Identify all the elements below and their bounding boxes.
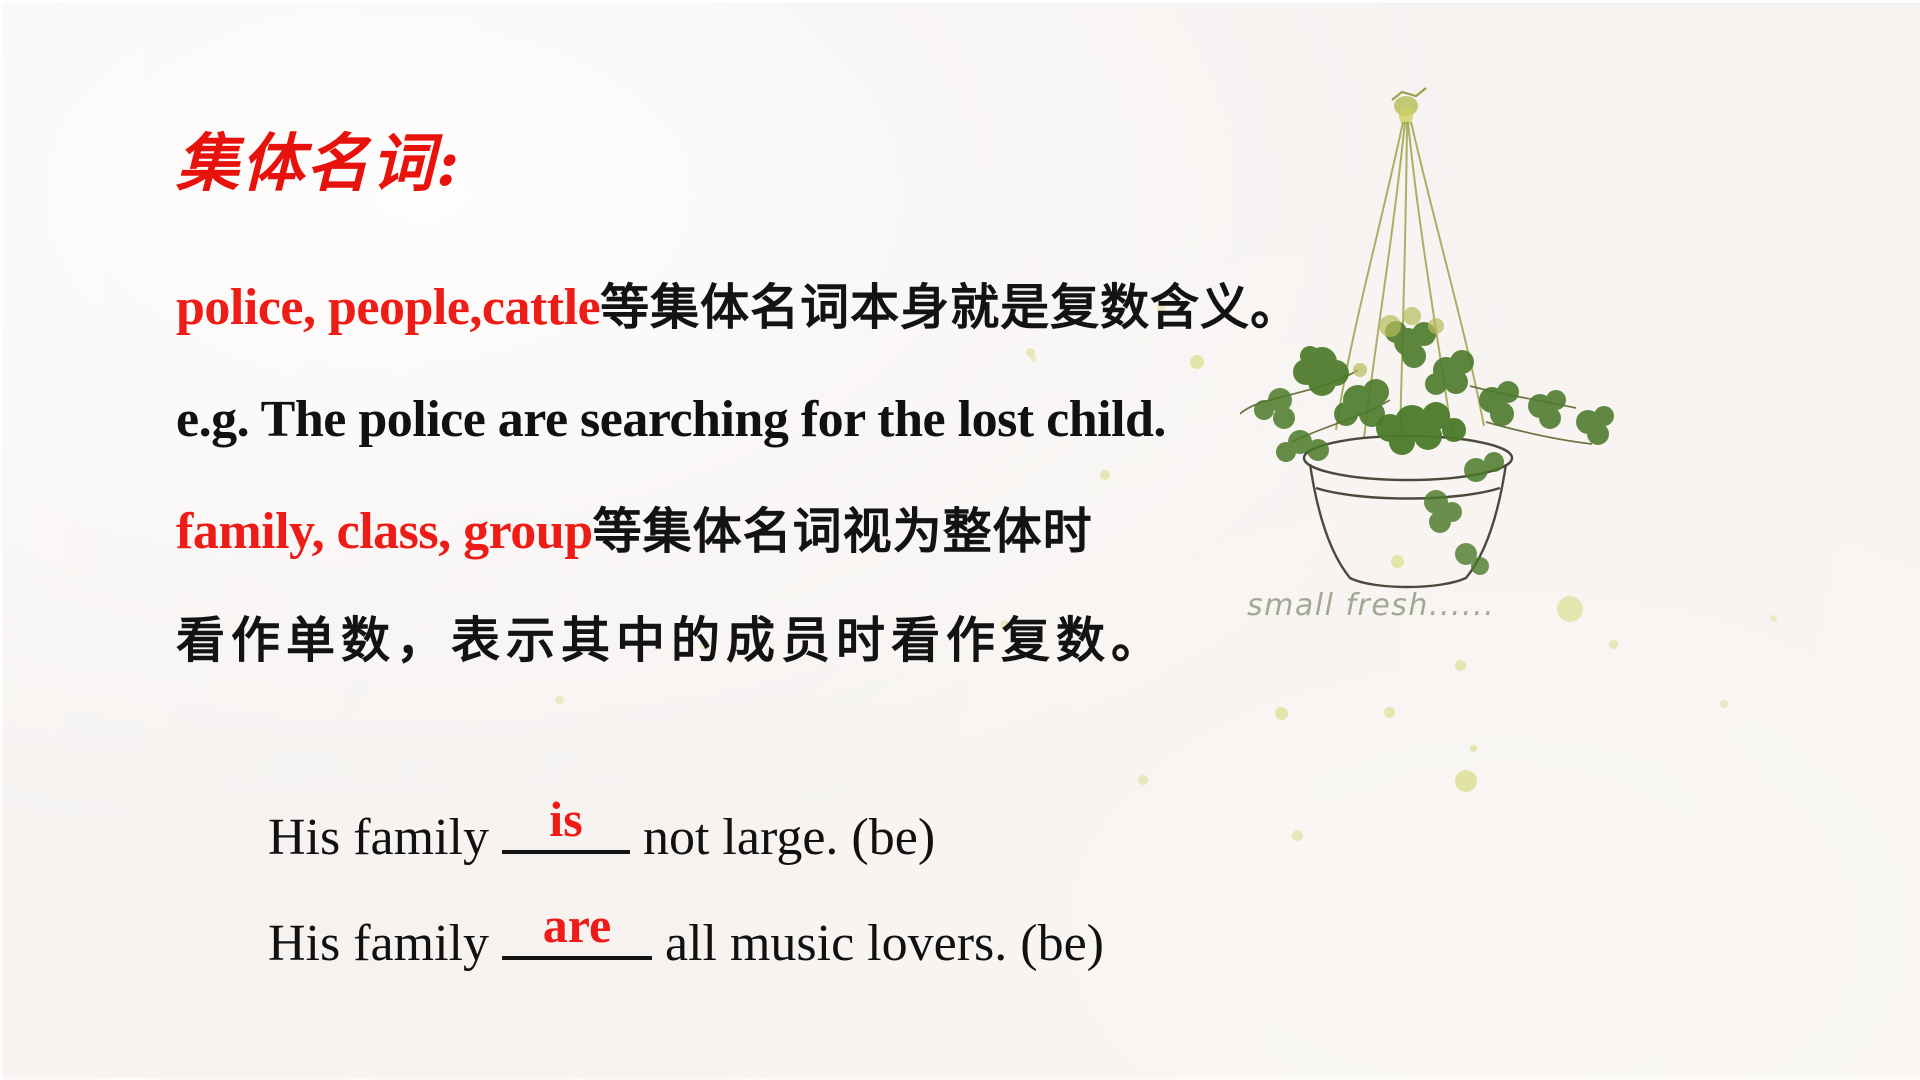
accent-dot <box>1557 596 1583 622</box>
exercise-2-blank[interactable]: are <box>502 906 652 960</box>
accent-dot <box>1455 770 1477 792</box>
hanging-potted-plant-illustration <box>1240 70 1660 600</box>
accent-dot <box>1470 745 1477 752</box>
accent-dot <box>1720 700 1728 708</box>
body-line-1-chinese: 等集体名词本身就是复数含义。 <box>600 278 1300 336</box>
accent-dot <box>1292 830 1303 841</box>
exercise-1-before-text: His family <box>268 809 502 866</box>
accent-dot <box>555 695 564 704</box>
exercise-1-answer: is <box>502 794 630 844</box>
accent-dot <box>1609 640 1618 649</box>
accent-dot <box>1030 355 1037 362</box>
accent-dot <box>1384 707 1395 718</box>
body-line-4-chinese: 看作单数，表示其中的成员时看作复数。 <box>176 611 1166 669</box>
body-line-2: e.g. The police are searching for the lo… <box>176 394 1166 446</box>
body-line-3-chinese: 等集体名词视为整体时 <box>593 502 1093 560</box>
exercise-2-before-text: His family <box>268 915 502 972</box>
accent-dot <box>1100 470 1110 480</box>
accent-dot <box>1026 348 1035 357</box>
accent-dot <box>1275 707 1288 720</box>
exercise-2-after-text: all music lovers. (be) <box>652 915 1104 972</box>
accent-dot <box>1391 555 1404 568</box>
exercise-1-blank[interactable]: is <box>502 800 630 854</box>
page-title: 集体名词: <box>176 132 461 195</box>
body-line-1: police, people,cattle等集体名词本身就是复数含义。 <box>176 282 1300 334</box>
collective-noun-examples-1: police, people,cattle <box>176 279 600 336</box>
accent-dot <box>1770 615 1777 622</box>
exercise-1-after-text: not large. (be) <box>630 809 935 866</box>
collective-noun-examples-2: family, class, group <box>176 503 593 560</box>
accent-dot <box>1190 355 1204 369</box>
example-sentence-police: e.g. The police are searching for the lo… <box>176 391 1166 448</box>
small-fresh-watermark: small fresh...... <box>1247 588 1495 623</box>
accent-dot <box>1138 775 1148 785</box>
exercise-2-answer: are <box>502 900 652 950</box>
exercise-item-2: His family are all music lovers. (be) <box>268 906 1104 970</box>
exercise-item-1: His family is not large. (be) <box>268 800 935 864</box>
body-line-4: 看作单数，表示其中的成员时看作复数。 <box>176 616 1166 665</box>
accent-dot <box>1455 660 1466 671</box>
body-line-3: family, class, group等集体名词视为整体时 <box>176 506 1093 558</box>
slide-canvas: small fresh...... 集体名词: police, people,c… <box>0 0 1920 1080</box>
